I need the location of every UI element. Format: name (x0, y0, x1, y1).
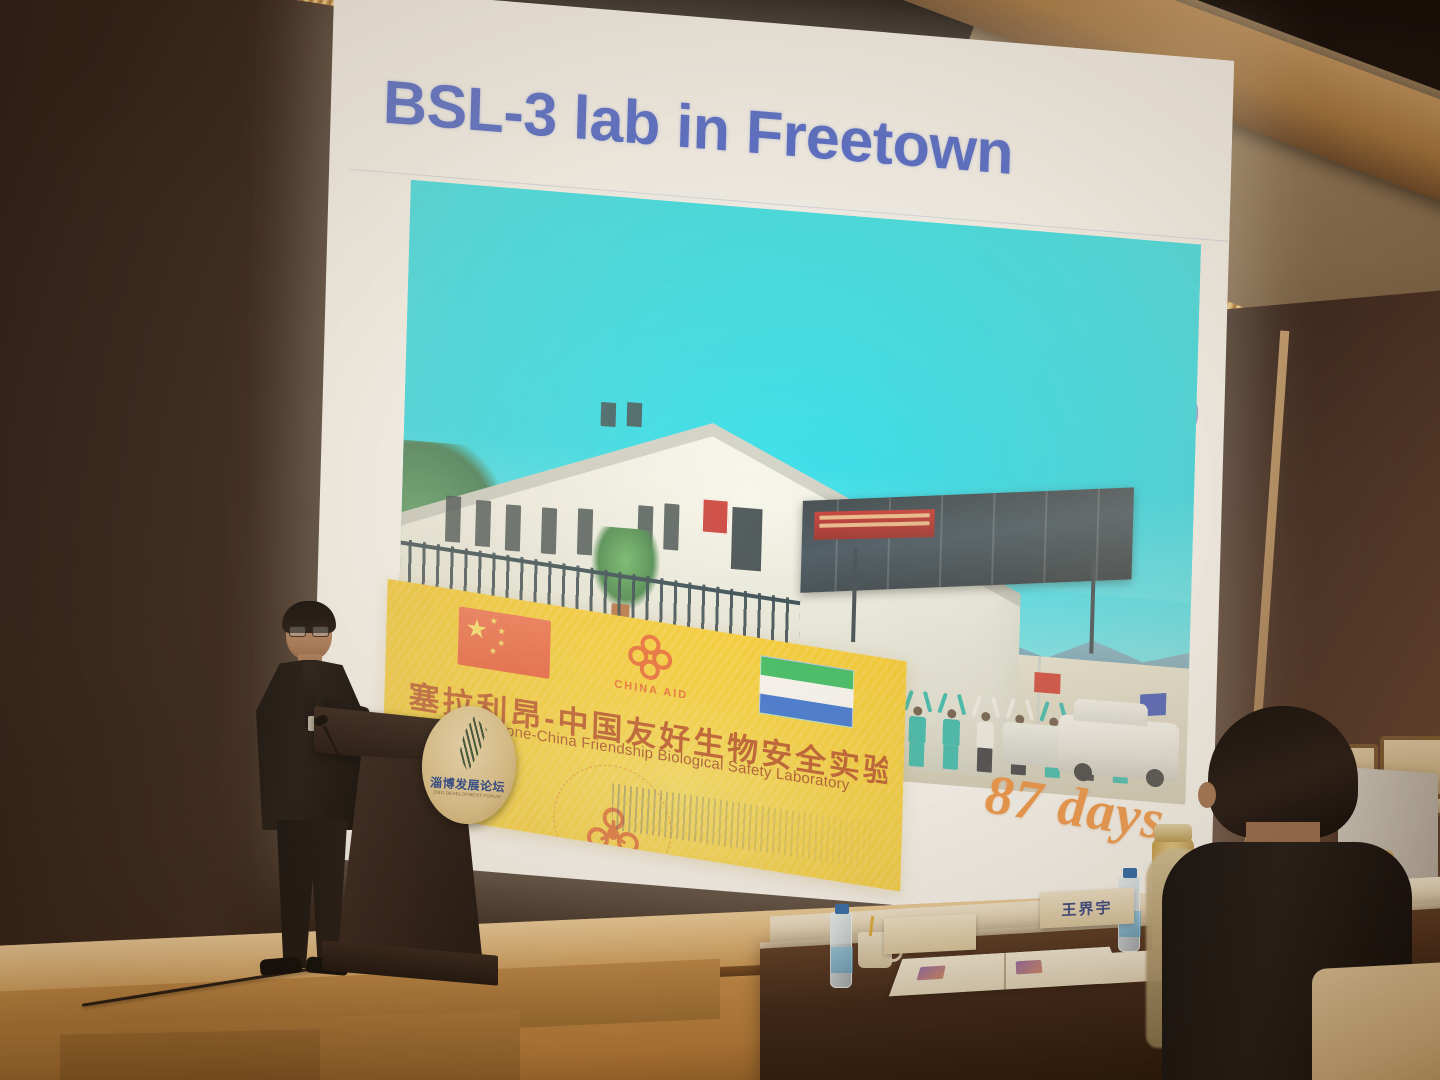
building-entrance (731, 507, 763, 571)
building-vent (627, 402, 643, 427)
building-window (541, 507, 557, 554)
building-window (663, 503, 679, 550)
building-window (445, 495, 461, 542)
attendee-chair (1312, 959, 1440, 1080)
presenter-shoe (259, 956, 302, 976)
name-card (884, 914, 976, 955)
parked-pickup (1058, 714, 1180, 782)
shell-emblem (450, 715, 494, 774)
red-flag (1034, 672, 1061, 694)
celebrating-person (908, 706, 927, 767)
celebrating-person (942, 709, 961, 770)
building-window (475, 500, 491, 547)
attendee-ear (1198, 782, 1216, 808)
water-bottle (830, 912, 852, 988)
attendee-hair (1208, 706, 1358, 838)
building-vent (601, 402, 617, 427)
name-card-text: 王界宇 (1061, 896, 1112, 920)
flag-china: ★ ★★ ★★ (458, 606, 551, 679)
stage-step-notch (60, 1029, 320, 1080)
lectern: 淄博发展论坛 ZIBO DEVELOPMENT FORUM (320, 716, 498, 984)
name-card: 王界宇 (1040, 888, 1134, 929)
presentation-photo: BSL-3 lab in Freetown (0, 0, 1440, 1080)
china-aid-knot-icon (628, 631, 677, 687)
microphone (316, 718, 374, 760)
entrance-canopy (800, 487, 1134, 592)
building-window (505, 504, 521, 551)
ceremony-banner (814, 509, 935, 540)
china-aid-logo: CHINA AID (607, 628, 697, 703)
building-sign-plate (702, 498, 729, 534)
seated-attendee (1172, 706, 1440, 1080)
flag-sierra-leone (759, 655, 854, 728)
eyeglasses-icon (289, 626, 329, 635)
